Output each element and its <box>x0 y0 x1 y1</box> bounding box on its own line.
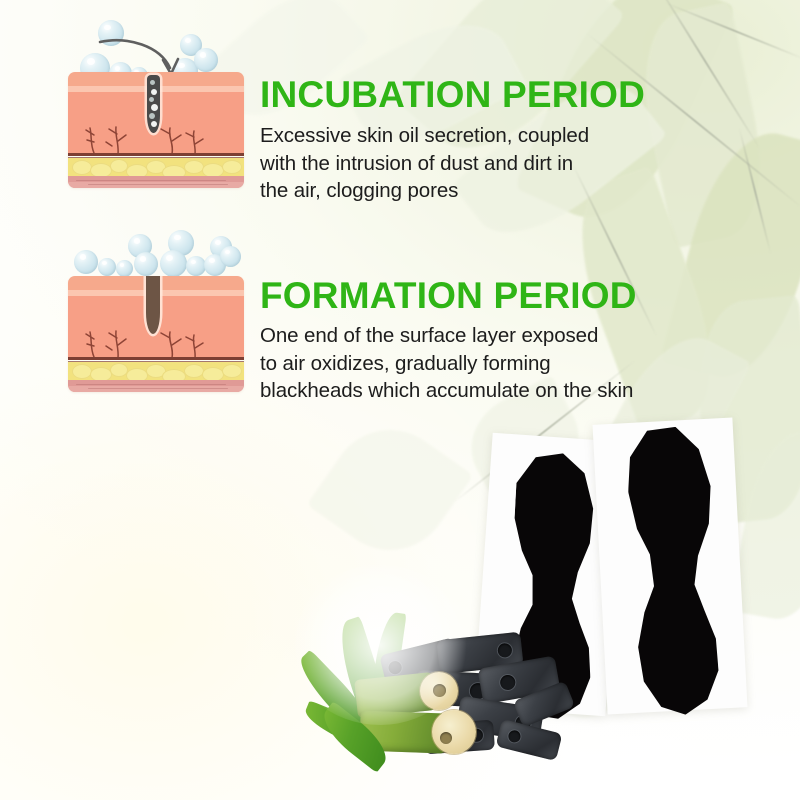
fat-cell-icon <box>72 364 92 379</box>
skin-cross-section-block <box>68 72 244 188</box>
blackhead-plug-icon <box>146 276 160 334</box>
muscle-striation <box>88 388 228 389</box>
oil-bubble-icon <box>134 252 158 276</box>
charcoal-hollow-core <box>499 674 516 691</box>
clogged-pore-icon <box>147 75 160 133</box>
bamboo-hollow-core <box>433 684 446 697</box>
oil-bubble-icon <box>194 48 218 72</box>
incubation-body-line: Excessive skin oil secretion, coupled <box>260 122 652 150</box>
fat-cell-icon <box>72 160 92 175</box>
dirt-particle-icon <box>150 80 155 85</box>
bamboo-charcoal-piece <box>496 719 563 761</box>
dirt-particle-icon <box>149 113 155 119</box>
formation-heading: FORMATION PERIOD <box>260 277 637 314</box>
charcoal-hollow-core <box>507 729 522 744</box>
dirt-particle-icon <box>151 89 157 95</box>
muscle-layer-highlight <box>68 386 244 392</box>
bamboo-hollow-core <box>440 732 452 744</box>
oil-bubble-icon <box>160 250 187 277</box>
muscle-layer-highlight <box>68 182 244 188</box>
blood-vessel-line <box>68 153 244 156</box>
formation-body-line: to air oxidizes, gradually forming <box>260 350 700 378</box>
formation-body-line: One end of the surface layer exposed <box>260 322 700 350</box>
muscle-striation <box>88 184 228 185</box>
formation-body-line: blackheads which accumulate on the skin <box>260 377 700 405</box>
dirt-particle-icon <box>151 104 158 111</box>
incubation-body-line: with the intrusion of dust and dirt in <box>260 150 652 178</box>
incubation-body: Excessive skin oil secretion, coupled wi… <box>260 122 652 205</box>
oil-bubble-icon <box>116 260 133 277</box>
muscle-striation <box>76 384 226 385</box>
skin-cross-section-block <box>68 276 244 392</box>
blood-vessel-line <box>68 357 244 360</box>
bamboo-cut-end <box>432 710 476 754</box>
oil-bubble-icon <box>186 256 206 276</box>
charcoal-hollow-core <box>387 660 403 676</box>
incubation-body-line: the air, clogging pores <box>260 177 652 205</box>
bamboo-cut-end <box>420 672 458 710</box>
product-infographic-poster: INCUBATION PERIOD Excessive skin oil sec… <box>0 0 800 800</box>
skin-diagram-incubation <box>68 12 244 188</box>
fat-cell-icon <box>222 364 242 378</box>
product-photo-area <box>300 415 800 800</box>
oil-bubble-icon <box>98 258 116 276</box>
incubation-heading: INCUBATION PERIOD <box>260 76 645 113</box>
oil-bubble-icon <box>74 250 98 274</box>
fat-cell-icon <box>184 160 204 174</box>
oil-bubble-icon <box>220 246 241 267</box>
formation-body: One end of the surface layer exposed to … <box>260 322 700 405</box>
charcoal-hollow-core <box>497 643 512 658</box>
dirt-particle-icon <box>149 97 154 102</box>
fat-cell-icon <box>222 160 242 174</box>
muscle-striation <box>76 180 226 181</box>
dirt-particle-icon <box>151 121 157 127</box>
bamboo-charcoal-pile <box>320 610 570 790</box>
skin-diagram-formation <box>68 228 244 404</box>
fat-cell-icon <box>184 364 204 378</box>
